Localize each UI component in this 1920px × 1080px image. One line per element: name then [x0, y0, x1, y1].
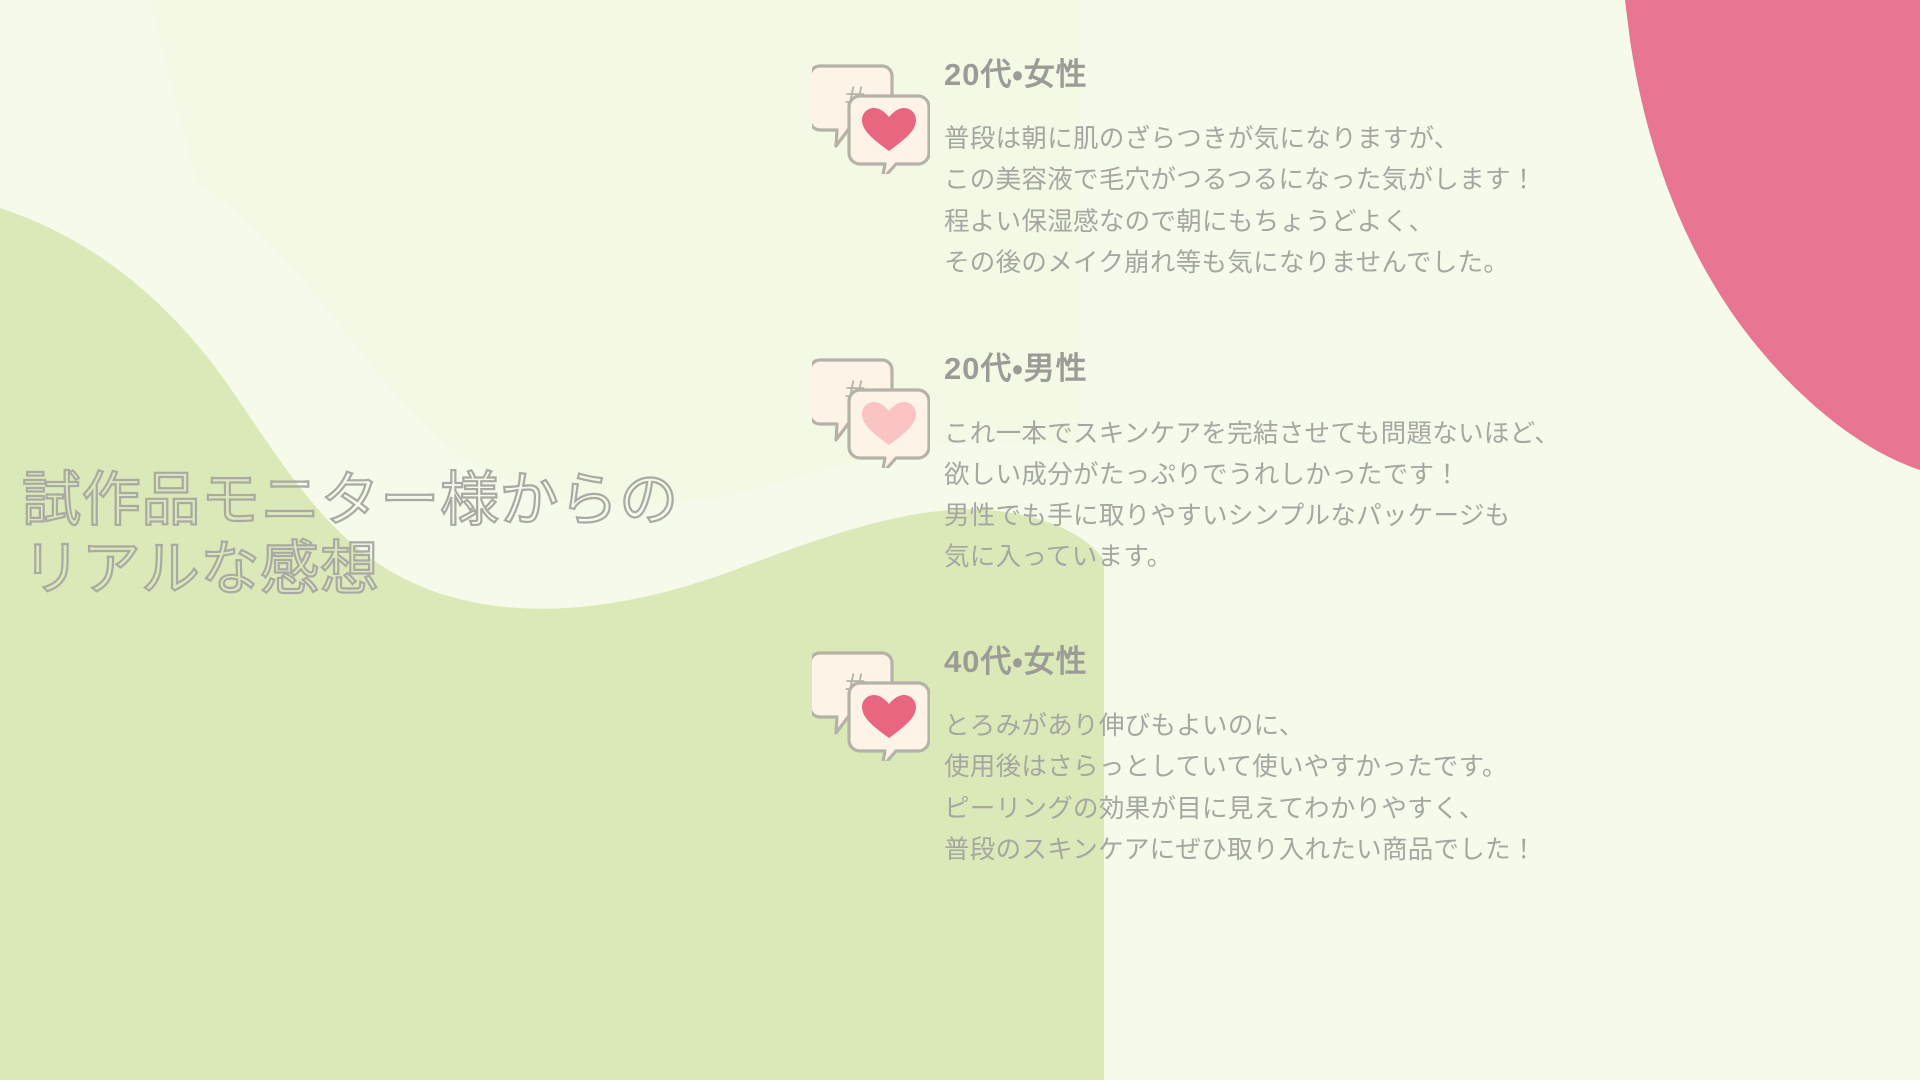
testimonial-content: 20代・男性 これ一本でスキンケアを完結させても問題ないほど、 欲しい成分がたっ… [930, 342, 1560, 578]
page-title-line-1: 試作品モニター様からの [22, 466, 662, 535]
testimonial-item: # 20代・男性 これ一本でスキンケアを完結させても問題ないほど、 欲しい成分が… [812, 342, 1872, 578]
speech-bubble-heart-icon: # [812, 62, 930, 174]
testimonial-content: 20代・女性 普段は朝に肌のざらつきが気になりますが、 この美容液で毛穴がつるつ… [930, 48, 1537, 284]
testimonial-item: # 20代・女性 普段は朝に肌のざらつきが気になりますが、 この美容液で毛穴がつ… [812, 48, 1872, 284]
testimonial-line: 普段のスキンケアにぜひ取り入れたい商品でした！ [944, 830, 1537, 871]
testimonial-line: この美容液で毛穴がつるつるになった気がします！ [944, 160, 1537, 201]
testimonial-line: 使用後はさらっとしていて使いやすかったです。 [944, 747, 1537, 788]
testimonial-line: 気に入っています。 [944, 537, 1560, 578]
testimonial-line: とろみがあり伸びもよいのに、 [944, 706, 1537, 747]
testimonial-heading: 20代・男性 [944, 350, 1560, 387]
testimonial-line: その後のメイク崩れ等も気になりませんでした。 [944, 243, 1537, 284]
testimonial-slide: 試作品モニター様からの リアルな感想 # 20代・女性 普段は朝に肌のざらつきが… [0, 0, 1920, 1080]
testimonial-text: 普段は朝に肌のざらつきが気になりますが、 この美容液で毛穴がつるつるになった気が… [944, 119, 1537, 284]
testimonial-line: 欲しい成分がたっぷりでうれしかったです！ [944, 455, 1560, 496]
testimonial-line: ピーリングの効果が目に見えてわかりやすく、 [944, 789, 1537, 830]
speech-bubble-heart-icon: # [812, 356, 930, 468]
testimonial-line: 男性でも手に取りやすいシンプルなパッケージも [944, 496, 1560, 537]
speech-bubble-heart-icon: # [812, 649, 930, 761]
testimonial-text: これ一本でスキンケアを完結させても問題ないほど、 欲しい成分がたっぷりでうれしか… [944, 414, 1560, 579]
testimonial-line: 普段は朝に肌のざらつきが気になりますが、 [944, 119, 1537, 160]
testimonial-line: これ一本でスキンケアを完結させても問題ないほど、 [944, 414, 1560, 455]
testimonial-text: とろみがあり伸びもよいのに、 使用後はさらっとしていて使いやすかったです。 ピー… [944, 706, 1537, 871]
testimonial-list: # 20代・女性 普段は朝に肌のざらつきが気になりますが、 この美容液で毛穴がつ… [812, 48, 1872, 871]
page-title-line-2: リアルな感想 [22, 535, 662, 604]
page-title: 試作品モニター様からの リアルな感想 [22, 466, 662, 604]
testimonial-heading: 20代・女性 [944, 56, 1537, 93]
testimonial-line: 程よい保湿感なので朝にもちょうどよく、 [944, 202, 1537, 243]
testimonial-heading: 40代・女性 [944, 643, 1537, 680]
testimonial-item: # 40代・女性 とろみがあり伸びもよいのに、 使用後はさらっとしていて使いやす… [812, 635, 1872, 871]
testimonial-content: 40代・女性 とろみがあり伸びもよいのに、 使用後はさらっとしていて使いやすかっ… [930, 635, 1537, 871]
